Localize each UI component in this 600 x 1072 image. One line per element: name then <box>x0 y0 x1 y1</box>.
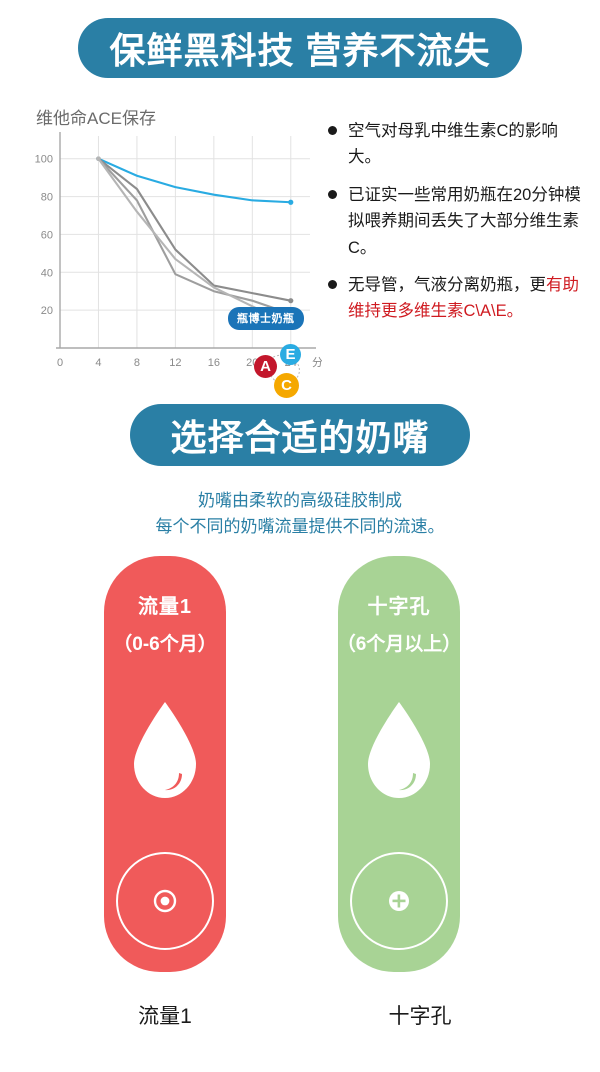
svg-text:4: 4 <box>95 357 101 369</box>
chart-series-layer <box>96 157 293 326</box>
product-detail-page: 保鲜黑科技 营养不流失 维他命ACE保存 2040608010004812162… <box>0 0 600 1072</box>
list-item: 已证实一些常用奶瓶在20分钟模拟喂养期间丢失了大部分维生素C。 <box>328 182 586 261</box>
svg-text:12: 12 <box>169 357 181 369</box>
bullet-text: 空气对母乳中维生素C的影响大。 <box>348 118 586 171</box>
svg-text:分钟: 分钟 <box>312 355 322 369</box>
card-subtitle: （6个月以上） <box>320 629 478 656</box>
list-item: 无导管，气液分离奶瓶，更有助维持更多维生素C\A\E。 <box>328 272 586 325</box>
water-drop-icon <box>126 698 204 807</box>
card-caption-right: 十字孔 <box>340 1000 500 1030</box>
bullet-text: 无导管，气液分离奶瓶，更有助维持更多维生素C\A\E。 <box>348 272 586 325</box>
vitamin-c-badge: C <box>274 373 299 398</box>
benefits-bullet-list: 空气对母乳中维生素C的影响大。 已证实一些常用奶瓶在20分钟模拟喂养期间丢失了大… <box>328 118 586 336</box>
bullet-dot-icon <box>328 126 337 135</box>
card-title: 十字孔 <box>320 590 478 619</box>
nipple-card-cross[interactable]: 十字孔 （6个月以上） <box>338 556 460 972</box>
bullet-text: 已证实一些常用奶瓶在20分钟模拟喂养期间丢失了大部分维生素C。 <box>348 182 586 261</box>
cross-hole-icon <box>350 852 448 950</box>
svg-text:80: 80 <box>41 192 53 204</box>
nipple-subcaption: 奶嘴由柔软的高级硅胶制成 每个不同的奶嘴流量提供不同的流速。 <box>0 488 600 541</box>
bullet-text-lead: 无导管，气液分离奶瓶，更 <box>348 276 546 294</box>
middle-banner-text: 选择合适的奶嘴 <box>170 409 429 461</box>
nipple-card-flow1[interactable]: 流量1 （0-6个月） <box>104 556 226 972</box>
subcaption-line-2: 每个不同的奶嘴流量提供不同的流速。 <box>0 514 600 540</box>
vitamin-retention-chart: 维他命ACE保存 2040608010004812162024分钟 瓶博士奶瓶 … <box>22 104 322 386</box>
bullet-dot-icon <box>328 190 337 199</box>
middle-banner: 选择合适的奶嘴 <box>130 404 470 466</box>
card-title: 流量1 <box>86 590 244 619</box>
svg-text:8: 8 <box>134 357 140 369</box>
svg-text:16: 16 <box>208 357 220 369</box>
svg-text:20: 20 <box>41 305 53 317</box>
top-banner: 保鲜黑科技 营养不流失 <box>78 18 522 78</box>
single-hole-icon <box>116 852 214 950</box>
subcaption-line-1: 奶嘴由柔软的高级硅胶制成 <box>0 488 600 514</box>
list-item: 空气对母乳中维生素C的影响大。 <box>328 118 586 171</box>
svg-text:60: 60 <box>41 229 53 241</box>
legend-pill-premium: 瓶博士奶瓶 <box>228 307 304 330</box>
svg-text:100: 100 <box>35 154 53 166</box>
svg-text:0: 0 <box>57 357 63 369</box>
bullet-dot-icon <box>328 280 337 289</box>
svg-text:40: 40 <box>41 267 53 279</box>
top-banner-text: 保鲜黑科技 营养不流失 <box>109 22 490 74</box>
vitamin-a-badge: A <box>254 355 277 378</box>
vitamin-e-badge: E <box>280 344 301 365</box>
card-subtitle: （0-6个月） <box>86 629 244 656</box>
card-caption-left: 流量1 <box>85 1000 245 1030</box>
water-drop-icon <box>360 698 438 807</box>
